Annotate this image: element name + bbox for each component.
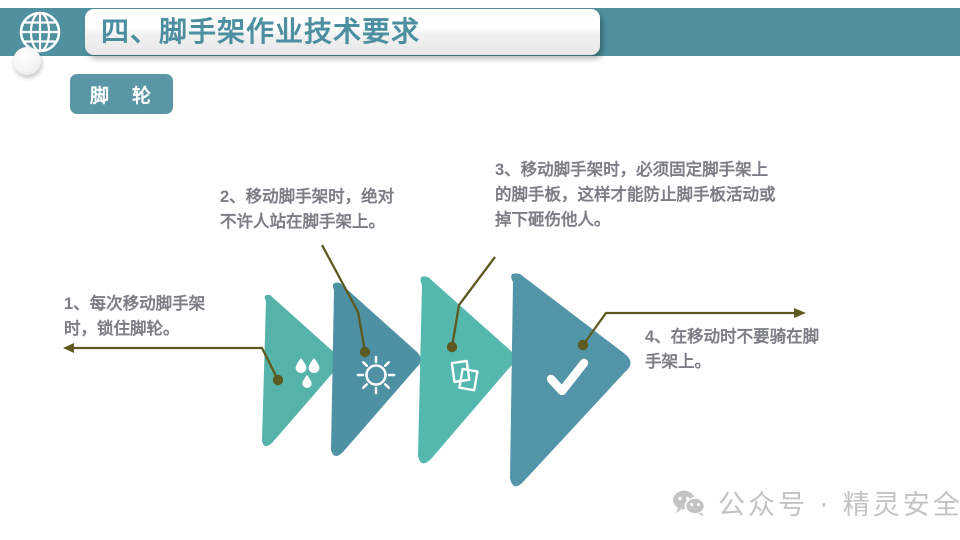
chevron-3 [418, 276, 515, 463]
watermark: 公众号 · 精灵安全 [672, 483, 960, 522]
callout-text-1: 1、每次移动脚手架 时，锁住脚轮。 [64, 292, 274, 342]
diagram-layer [0, 0, 960, 540]
callout-text-4: 4、在移动时不要骑在脚 手架上。 [645, 325, 875, 375]
slide-canvas: 四、脚手架作业技术要求 脚 轮 [0, 0, 960, 540]
callout-text-3: 3、移动脚手架时，必须固定脚手架上 的脚手板，这样才能防止脚手板活动或 掉下砸伤… [495, 158, 870, 233]
chevron-2 [331, 283, 421, 456]
leader-line-1 [63, 343, 283, 385]
callout-text-2: 2、移动脚手架时，绝对 不许人站在脚手架上。 [220, 185, 470, 235]
wechat-icon [672, 489, 706, 517]
watermark-text: 公众号 · 精灵安全 [718, 483, 960, 522]
chevron-4 [510, 273, 631, 486]
